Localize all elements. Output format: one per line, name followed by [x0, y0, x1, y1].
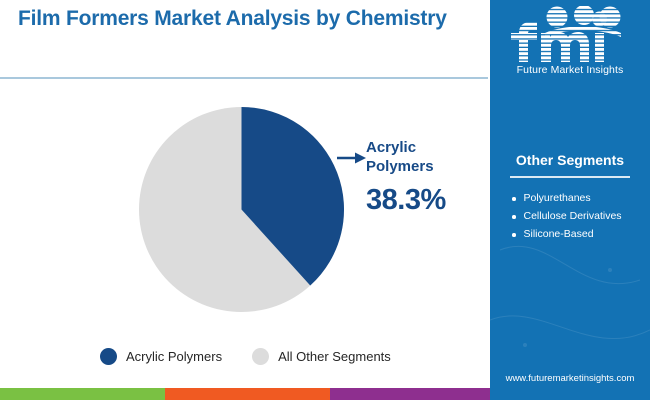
legend-swatch-icon: [100, 348, 117, 365]
website-url[interactable]: www.futuremarketinsights.com: [490, 373, 650, 384]
bullet-icon: [512, 215, 516, 219]
legend-item-all-other-segments[interactable]: All Other Segments: [252, 348, 391, 365]
bullet-icon: [512, 233, 516, 237]
list-item: Cellulose Derivatives: [512, 210, 650, 223]
callout-arrow-icon: [337, 148, 367, 168]
legend-swatch-icon: [252, 348, 269, 365]
page-title: Film Formers Market Analysis by Chemistr…: [18, 6, 458, 33]
legend-label: Acrylic Polymers: [126, 349, 222, 364]
chart-legend: Acrylic Polymers All Other Segments: [100, 348, 391, 365]
list-item-label: Silicone-Based: [524, 228, 594, 241]
legend-label: All Other Segments: [278, 349, 391, 364]
other-segments-heading: Other Segments: [490, 152, 650, 168]
bullet-icon: [512, 197, 516, 201]
list-item: Polyurethanes: [512, 192, 650, 205]
list-item-label: Polyurethanes: [524, 192, 591, 205]
bar-segment-green: [0, 388, 165, 400]
callout-value: 38.3%: [366, 184, 486, 217]
fmi-logo-tagline: Future Market Insights: [490, 64, 650, 76]
callout-label-line2: Polymers: [366, 158, 486, 177]
bar-segment-orange: [165, 388, 330, 400]
infographic-page: Film Formers Market Analysis by Chemistr…: [0, 0, 650, 400]
chart-main-area: Film Formers Market Analysis by Chemistr…: [0, 0, 490, 388]
other-segments-list: Polyurethanes Cellulose Derivatives Sili…: [512, 192, 650, 246]
fmi-logo-icon: [505, 6, 635, 62]
pie-chart: [139, 107, 344, 312]
callout-label-line1: Acrylic: [366, 139, 486, 158]
bottom-color-bar: [0, 388, 490, 400]
fmi-logo[interactable]: Future Market Insights: [490, 6, 650, 76]
legend-item-acrylic-polymers[interactable]: Acrylic Polymers: [100, 348, 222, 365]
side-panel: Future Market Insights Other Segments Po…: [490, 0, 650, 400]
list-item: Silicone-Based: [512, 228, 650, 241]
list-item-label: Cellulose Derivatives: [524, 210, 622, 223]
callout-block: Acrylic Polymers 38.3%: [366, 139, 486, 217]
header-divider: [0, 77, 488, 79]
bar-segment-purple: [330, 388, 490, 400]
other-segments-divider: [510, 176, 630, 178]
pie-chart-svg: [139, 107, 344, 312]
